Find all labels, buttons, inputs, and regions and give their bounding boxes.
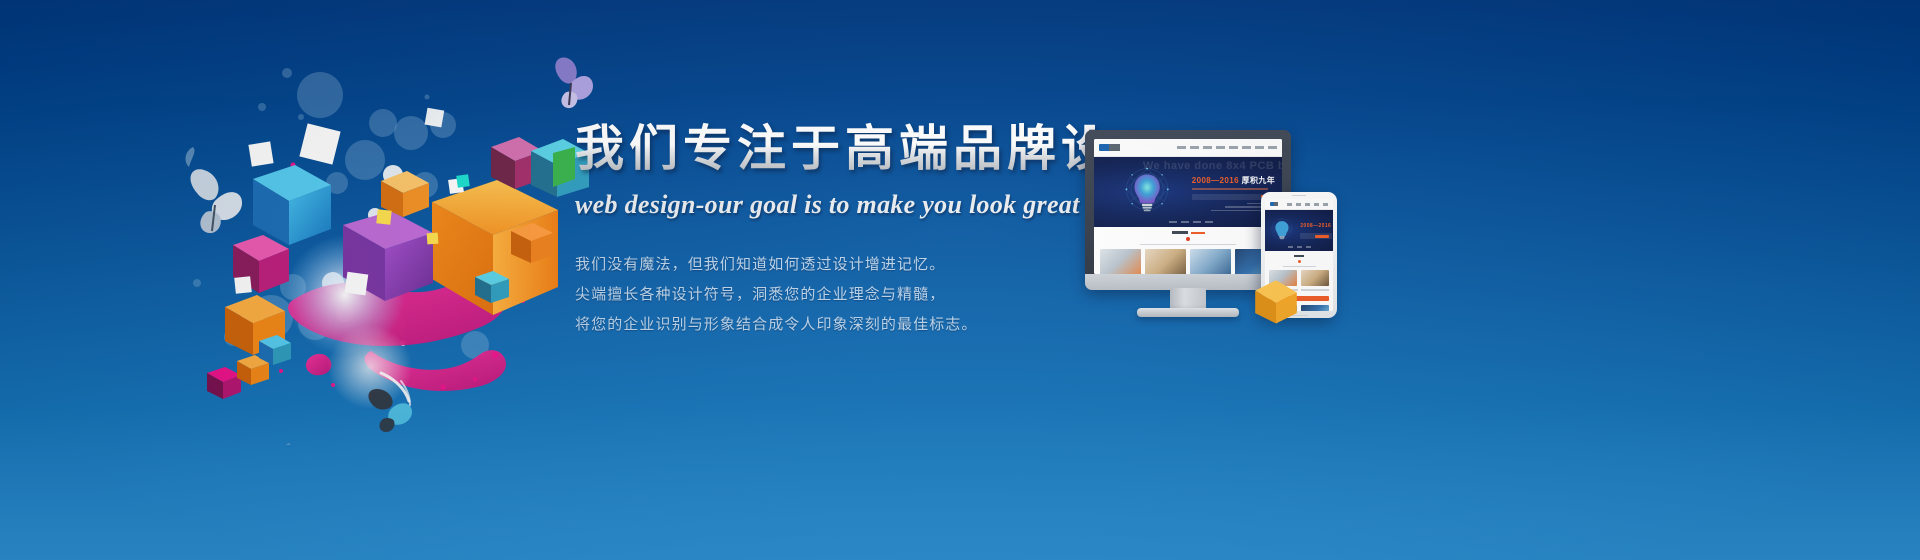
nav-link (1323, 203, 1328, 206)
nav-link (1255, 146, 1264, 149)
cyan-square (456, 174, 470, 188)
thumbnail (1301, 305, 1329, 312)
thumbnail (1100, 249, 1141, 274)
mobile-navbar (1265, 199, 1333, 210)
hero-pagination (1169, 221, 1213, 223)
monitor-screen: We have done 8x4 PCB based projects (1094, 139, 1282, 274)
phone-speaker (1292, 195, 1306, 197)
hero-subtitle-rule (1192, 188, 1268, 190)
mobile-hero-bar (1300, 233, 1331, 239)
hero-pagination-dot (1181, 221, 1189, 223)
thumbnail (1145, 249, 1186, 274)
mobile-nav-links (1287, 203, 1328, 206)
hero-slogan: 厚积九年 (1242, 176, 1276, 185)
mobile-logo (1270, 202, 1284, 206)
monitor-stand-neck (1170, 288, 1206, 310)
section-title-mark (1294, 255, 1304, 257)
nav-link (1177, 146, 1186, 149)
mobile-accent-dot (1298, 260, 1301, 263)
site-body (1094, 227, 1282, 274)
description-line-1: 我们没有魔法，但我们知道如何透过设计增进记忆。 (575, 250, 1095, 280)
device-mockups: We have done 8x4 PCB based projects (1085, 130, 1355, 320)
site-nav-links (1177, 146, 1277, 149)
website-preview: We have done 8x4 PCB based projects (1094, 139, 1282, 274)
nav-link (1242, 146, 1251, 149)
hero-pagination-dot (1288, 246, 1293, 248)
section-title-accent (1191, 232, 1205, 234)
section-title-mark (1172, 231, 1188, 234)
site-logo (1099, 144, 1135, 151)
nav-link (1314, 203, 1319, 206)
abstract-artwork (175, 55, 595, 445)
description-line-3: 将您的企业识别与形象结合成令人印象深刻的最佳标志。 (575, 310, 1095, 340)
crescent-shape-2 (282, 443, 290, 445)
hero-description: 我们没有魔法，但我们知道如何透过设计增进记忆。 尖端擅长各种设计符号，洞悉您的企… (575, 250, 1095, 340)
butterfly-top-right (555, 57, 593, 108)
hero-copy-block: 我们专注于高端品牌设计 web design-our goal is to ma… (575, 120, 1095, 340)
nav-link (1287, 203, 1292, 206)
nav-link (1203, 146, 1212, 149)
hero-title: 2008—2016 厚积九年 (1192, 175, 1278, 186)
thumbnail (1190, 249, 1231, 274)
description-line-2: 尖端擅长各种设计符号，洞悉您的企业理念与精髓， (575, 280, 1095, 310)
page-subtitle: web design-our goal is to make you look … (575, 190, 1095, 220)
cube-blue (253, 165, 331, 245)
thumbnail (1301, 270, 1329, 286)
hero-years: 2008—2016 (1192, 176, 1239, 185)
floating-orange-cube (1250, 275, 1302, 327)
nav-link (1296, 203, 1301, 206)
section-title (1100, 231, 1276, 235)
page-title: 我们专注于高端品牌设计 (575, 120, 1095, 178)
site-navbar (1094, 139, 1282, 157)
lightbulb-network-graphic (1102, 164, 1192, 222)
hero-pagination-dot (1193, 221, 1201, 223)
section-description-rule (1140, 244, 1237, 246)
site-hero: We have done 8x4 PCB based projects (1094, 157, 1282, 227)
section-accent-dot (1186, 237, 1190, 241)
nav-link (1305, 203, 1310, 206)
nav-link (1229, 146, 1238, 149)
mobile-description-rule (1283, 266, 1316, 268)
caption-rule (1301, 289, 1330, 291)
mobile-hero: 2008—2016 厚积九年 (1265, 210, 1333, 250)
mobile-hero-title: 2008—2016 厚积九年 (1300, 222, 1331, 229)
mobile-hero-copy: 2008—2016 厚积九年 (1300, 222, 1331, 239)
nav-link (1216, 146, 1225, 149)
mobile-hero-pagination (1288, 246, 1311, 248)
butterfly-left (191, 169, 243, 233)
hero-pagination-dot (1169, 221, 1177, 223)
monitor-stand-base (1137, 308, 1239, 317)
hero-pagination-dot (1297, 246, 1302, 248)
hero-banner: 我们专注于高端品牌设计 web design-our goal is to ma… (0, 0, 1920, 560)
mobile-section-title (1269, 254, 1329, 258)
thumbnail-grid (1100, 249, 1276, 274)
mobile-hero-years: 2008—2016 (1300, 223, 1331, 229)
hero-pagination-dot (1306, 246, 1311, 248)
nav-link (1268, 146, 1277, 149)
mobile-lightbulb-graphic (1267, 215, 1297, 246)
nav-link (1190, 146, 1199, 149)
hero-pagination-dot (1205, 221, 1213, 223)
crescent-shape (186, 147, 195, 167)
